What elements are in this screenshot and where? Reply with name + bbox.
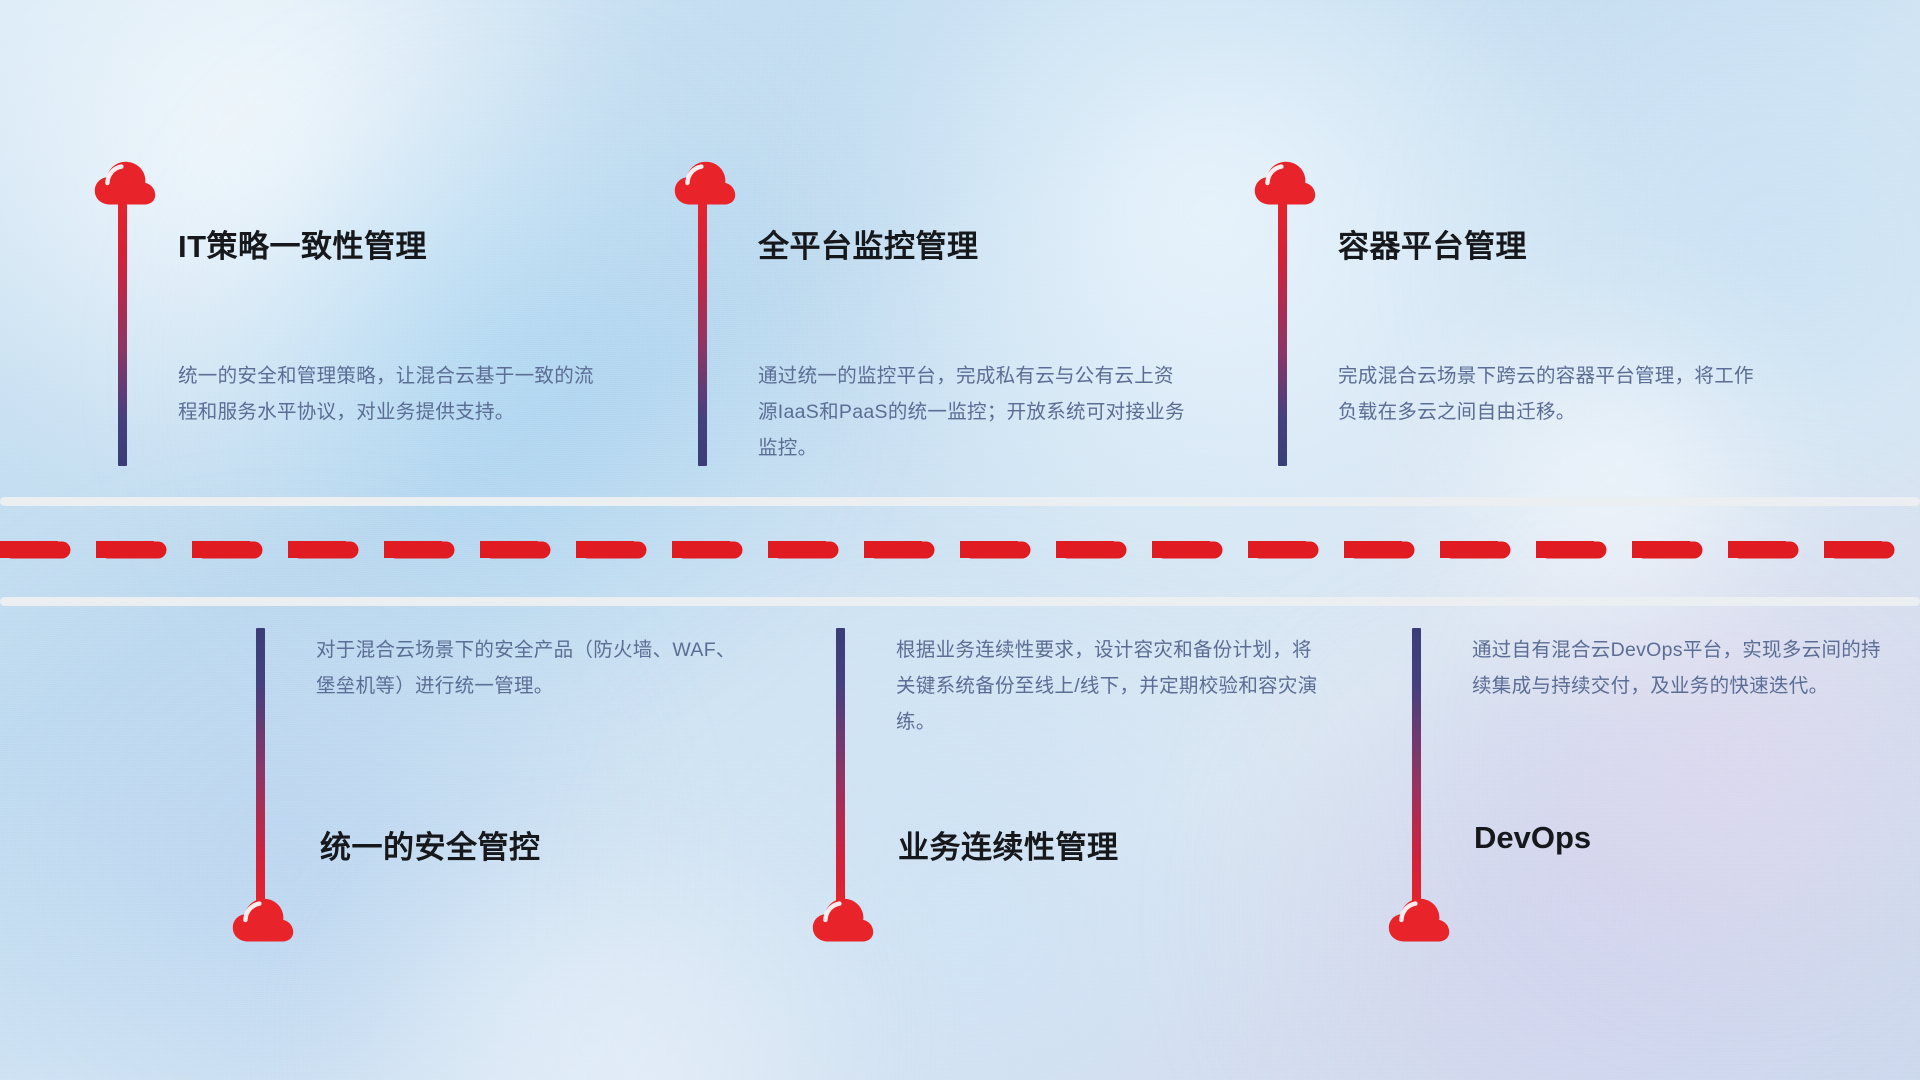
connector-bar xyxy=(836,628,845,910)
section-title: IT策略一致性管理 xyxy=(178,221,427,266)
section-title: DevOps xyxy=(1474,820,1591,856)
cloud-icon xyxy=(674,161,736,205)
section-description: 对于混合云场景下的安全产品（防火墙、WAF、堡垒机等）进行统一管理。 xyxy=(316,632,736,704)
cloud-icon xyxy=(812,898,874,942)
cloud-icon xyxy=(232,898,294,942)
connector-bar xyxy=(1278,200,1287,466)
section-description: 通过自有混合云DevOps平台，实现多云间的持续集成与持续交付，及业务的快速迭代… xyxy=(1472,632,1892,704)
connector-bar xyxy=(256,628,265,910)
section-description: 统一的安全和管理策略，让混合云基于一致的流程和服务水平协议，对业务提供支持。 xyxy=(178,358,596,430)
section-title: 业务连续性管理 xyxy=(898,822,1119,867)
section-description: 通过统一的监控平台，完成私有云与公有云上资源IaaS和PaaS的统一监控；开放系… xyxy=(758,358,1190,466)
cloud-icon xyxy=(1254,161,1316,205)
road-edge-bottom-line xyxy=(0,597,1920,606)
infographic-canvas: IT策略一致性管理 统一的安全和管理策略，让混合云基于一致的流程和服务水平协议，… xyxy=(0,0,1920,1080)
section-description: 根据业务连续性要求，设计容灾和备份计划，将关键系统备份至线上/线下，并定期校验和… xyxy=(896,632,1320,740)
section-description: 完成混合云场景下跨云的容器平台管理，将工作负载在多云之间自由迁移。 xyxy=(1338,358,1762,430)
cloud-icon xyxy=(94,161,156,205)
road-dash-layer xyxy=(0,534,1920,566)
section-title: 容器平台管理 xyxy=(1338,221,1527,266)
road-edge-top-line xyxy=(0,497,1920,506)
cloud-icon xyxy=(1388,898,1450,942)
connector-bar xyxy=(698,200,707,466)
connector-bar xyxy=(118,200,127,466)
section-title: 统一的安全管控 xyxy=(320,822,541,867)
section-title: 全平台监控管理 xyxy=(758,221,979,266)
connector-bar xyxy=(1412,628,1421,910)
